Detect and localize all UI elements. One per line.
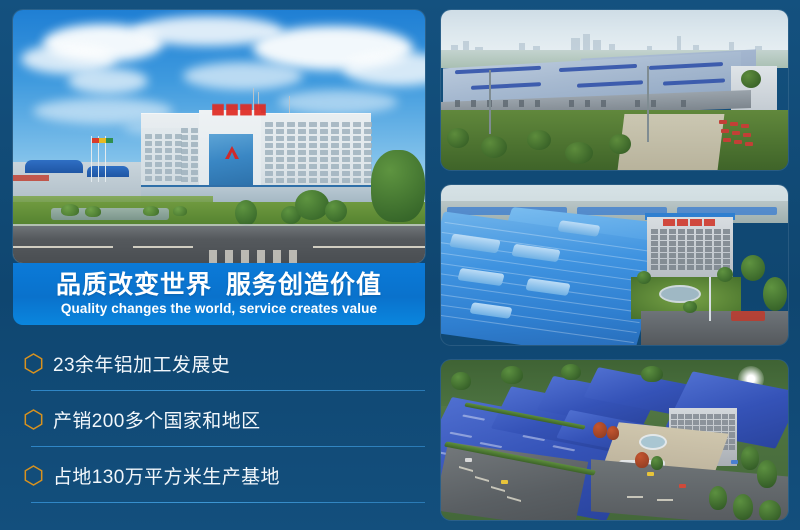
shrub bbox=[85, 206, 101, 217]
facade-window bbox=[681, 100, 686, 107]
window-grid bbox=[651, 229, 730, 270]
slogan-headline-cn: 品质改变世界服务创造价值 bbox=[56, 272, 382, 298]
vehicle bbox=[679, 484, 686, 488]
antenna-mast bbox=[289, 96, 290, 114]
tree bbox=[683, 301, 697, 313]
rooftop-sign bbox=[663, 219, 715, 226]
flagpoles bbox=[91, 136, 113, 182]
facade-window bbox=[569, 100, 574, 107]
fountain bbox=[639, 434, 667, 450]
power-pylon bbox=[489, 70, 491, 134]
facade-window bbox=[585, 100, 590, 107]
vehicle bbox=[647, 472, 654, 476]
crosswalk-stripe bbox=[273, 250, 281, 263]
tree bbox=[527, 130, 551, 150]
power-pylon bbox=[647, 66, 649, 142]
shrub bbox=[173, 206, 187, 216]
hexagon-icon bbox=[13, 465, 53, 486]
cloud bbox=[68, 68, 148, 94]
tree bbox=[763, 277, 787, 311]
campus-road bbox=[641, 311, 788, 345]
lane-marking bbox=[657, 499, 673, 501]
tree bbox=[481, 136, 507, 158]
facade-window bbox=[635, 100, 640, 107]
slogan-banner: 品质改变世界服务创造价值 Quality changes the world, … bbox=[13, 263, 425, 325]
facade-window bbox=[535, 100, 540, 107]
tree bbox=[235, 200, 257, 226]
cloud bbox=[278, 90, 398, 114]
feature-item-3[interactable]: 占地130万平方米生产基地 bbox=[13, 447, 425, 503]
vehicle bbox=[731, 460, 738, 464]
red-signage-band bbox=[13, 175, 49, 181]
crosswalk-stripe bbox=[225, 250, 233, 263]
ornamental-tree bbox=[635, 452, 649, 468]
glass-atrium bbox=[209, 134, 253, 189]
slogan-headline-en: Quality changes the world, service creat… bbox=[61, 301, 377, 316]
road-marking bbox=[313, 246, 425, 248]
aerial-factory-panorama-photo[interactable] bbox=[441, 10, 788, 170]
blue-roof bbox=[25, 160, 83, 173]
tree bbox=[741, 255, 765, 281]
tree bbox=[295, 190, 329, 220]
cloud bbox=[183, 62, 303, 90]
page-root: 品质改变世界服务创造价值 Quality changes the world, … bbox=[0, 0, 800, 530]
tree bbox=[501, 366, 523, 384]
window-grid bbox=[181, 128, 198, 182]
hero-headquarters-photo[interactable] bbox=[13, 10, 425, 263]
crosswalk-stripe bbox=[209, 250, 217, 263]
fountain bbox=[659, 285, 701, 303]
facade-window bbox=[601, 100, 606, 107]
hexagon-icon bbox=[13, 409, 53, 430]
rooftop-sign bbox=[199, 103, 279, 116]
feature-label: 产销200多个国家和地区 bbox=[53, 406, 261, 433]
divider bbox=[31, 502, 425, 504]
parked-vehicles bbox=[719, 120, 785, 150]
tree bbox=[709, 486, 727, 510]
tree bbox=[733, 494, 753, 520]
road bbox=[13, 226, 425, 263]
shrub bbox=[143, 206, 159, 216]
left-column: 品质改变世界服务创造价值 Quality changes the world, … bbox=[13, 10, 425, 520]
hexagon-icon bbox=[13, 353, 53, 374]
tree bbox=[637, 271, 651, 284]
yard-pavement bbox=[618, 114, 725, 170]
vehicle bbox=[465, 458, 472, 462]
tree bbox=[757, 460, 777, 488]
blue-roof-factory-campus-photo[interactable] bbox=[441, 185, 788, 345]
floodlight-mast bbox=[709, 277, 711, 321]
crosswalk-stripe bbox=[241, 250, 249, 263]
feature-list: 23余年铝加工发展史 产销200多个国家和地区 占地130万 bbox=[13, 335, 425, 503]
tree bbox=[741, 446, 759, 470]
tree bbox=[759, 500, 781, 520]
window-grid bbox=[145, 134, 182, 181]
industrial-park-3d-rendering[interactable] bbox=[441, 360, 788, 520]
tree bbox=[641, 366, 663, 382]
tree bbox=[565, 142, 593, 164]
tree bbox=[741, 70, 761, 88]
tree bbox=[371, 150, 425, 222]
facade-window bbox=[503, 100, 508, 107]
road-marking bbox=[13, 246, 113, 248]
feature-item-1[interactable]: 23余年铝加工发展史 bbox=[13, 335, 425, 391]
crosswalk-stripe bbox=[289, 250, 297, 263]
facade-window bbox=[455, 100, 460, 107]
crosswalk-stripe bbox=[257, 250, 265, 263]
facade-window bbox=[651, 100, 656, 107]
red-canopy bbox=[731, 311, 765, 321]
slogan-cn-part1: 品质改变世界 bbox=[56, 271, 212, 299]
ornamental-tree bbox=[607, 426, 619, 440]
tree bbox=[447, 128, 469, 148]
lane-marking bbox=[627, 496, 643, 498]
facade-window bbox=[471, 100, 476, 107]
tree bbox=[651, 456, 663, 470]
facade-window bbox=[519, 100, 524, 107]
tree bbox=[561, 364, 581, 380]
tree bbox=[325, 200, 347, 222]
feature-item-2[interactable]: 产销200多个国家和地区 bbox=[13, 391, 425, 447]
ornamental-tree bbox=[593, 422, 607, 438]
vehicle bbox=[501, 480, 508, 484]
window-grid bbox=[265, 122, 372, 183]
right-column bbox=[441, 10, 788, 520]
shrub bbox=[61, 204, 79, 216]
tree bbox=[717, 267, 733, 282]
tree bbox=[609, 134, 631, 154]
tree bbox=[451, 372, 471, 390]
slogan-cn-part2: 服务创造价值 bbox=[226, 271, 382, 299]
road-marking bbox=[133, 246, 193, 248]
feature-label: 占地130万平方米生产基地 bbox=[53, 462, 280, 489]
feature-label: 23余年铝加工发展史 bbox=[53, 350, 230, 377]
